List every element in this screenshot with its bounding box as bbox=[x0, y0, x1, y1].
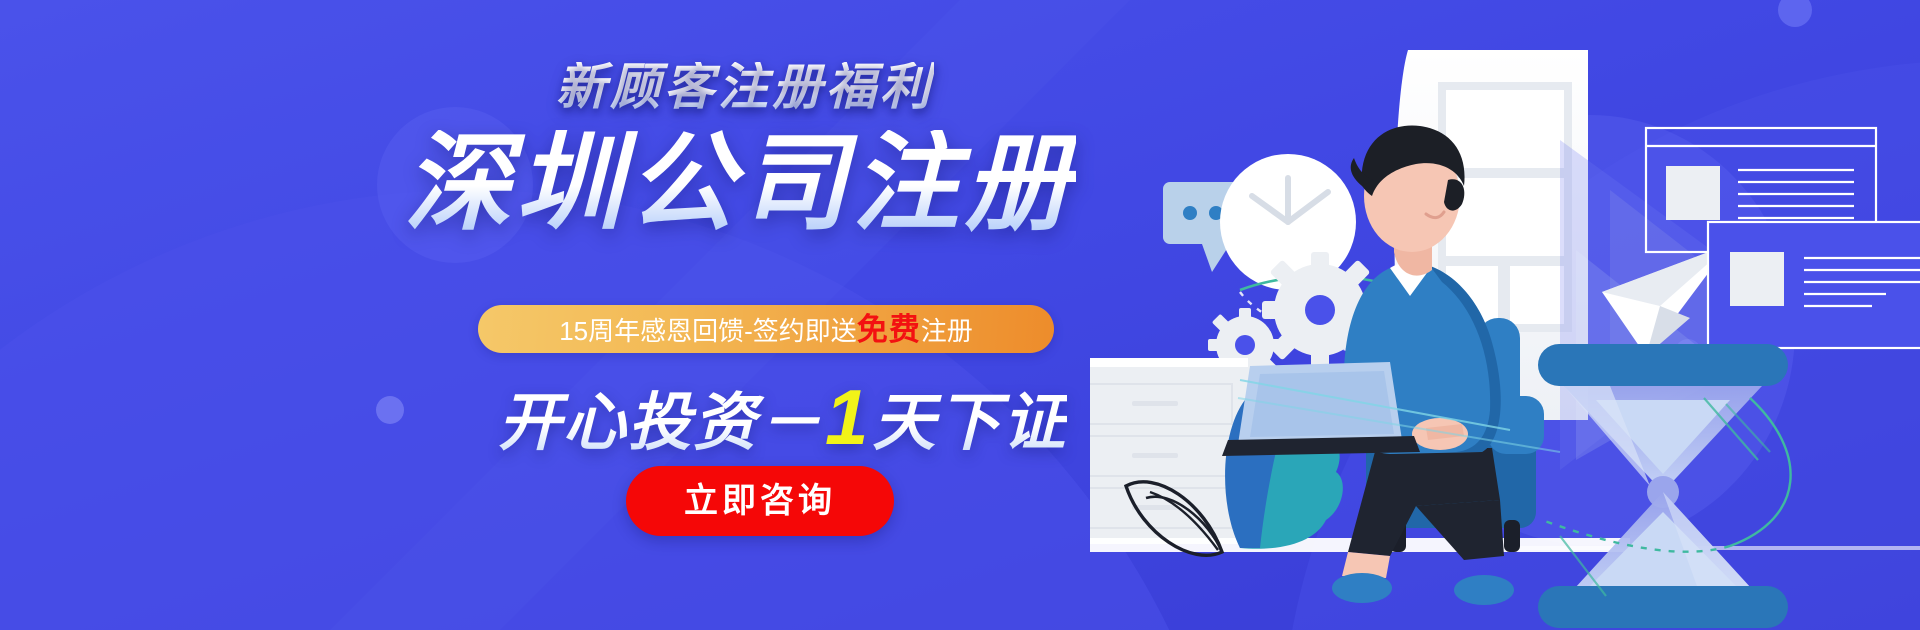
promo-suffix: 注册 bbox=[921, 316, 973, 346]
page-title: 深圳公司注册 bbox=[404, 130, 1076, 237]
shoe bbox=[1332, 573, 1392, 603]
promo-prefix: 15周年感恩回馈-签约即送 bbox=[559, 316, 857, 346]
promo-badge-text: 15周年感恩回馈-签约即送免费注册 bbox=[559, 314, 973, 345]
promo-highlight: 免费 bbox=[857, 312, 921, 347]
subheadline-after: 天下证 bbox=[872, 388, 1067, 458]
eyebrow-text: 新顾客注册福利 bbox=[556, 62, 934, 112]
document-card-bottom bbox=[1708, 222, 1920, 348]
hero-illustration bbox=[1090, 0, 1920, 630]
consult-now-label: 立即咨询 bbox=[684, 484, 836, 518]
consult-now-button[interactable]: 立即咨询 bbox=[626, 466, 894, 536]
promo-badge: 15周年感恩回馈-签约即送免费注册 bbox=[478, 305, 1054, 353]
laptop bbox=[1222, 362, 1420, 456]
shoe bbox=[1454, 575, 1514, 605]
copy-block: 新顾客注册福利 深圳公司注册 15周年感恩回馈-签约即送免费注册 开心投资－1天… bbox=[0, 0, 1160, 630]
promo-banner: 新顾客注册福利 深圳公司注册 15周年感恩回馈-签约即送免费注册 开心投资－1天… bbox=[0, 0, 1920, 630]
subheadline: 开心投资－1天下证 bbox=[498, 378, 1067, 456]
subheadline-before: 开心投资－ bbox=[498, 388, 823, 458]
subheadline-number: 1 bbox=[823, 373, 872, 461]
